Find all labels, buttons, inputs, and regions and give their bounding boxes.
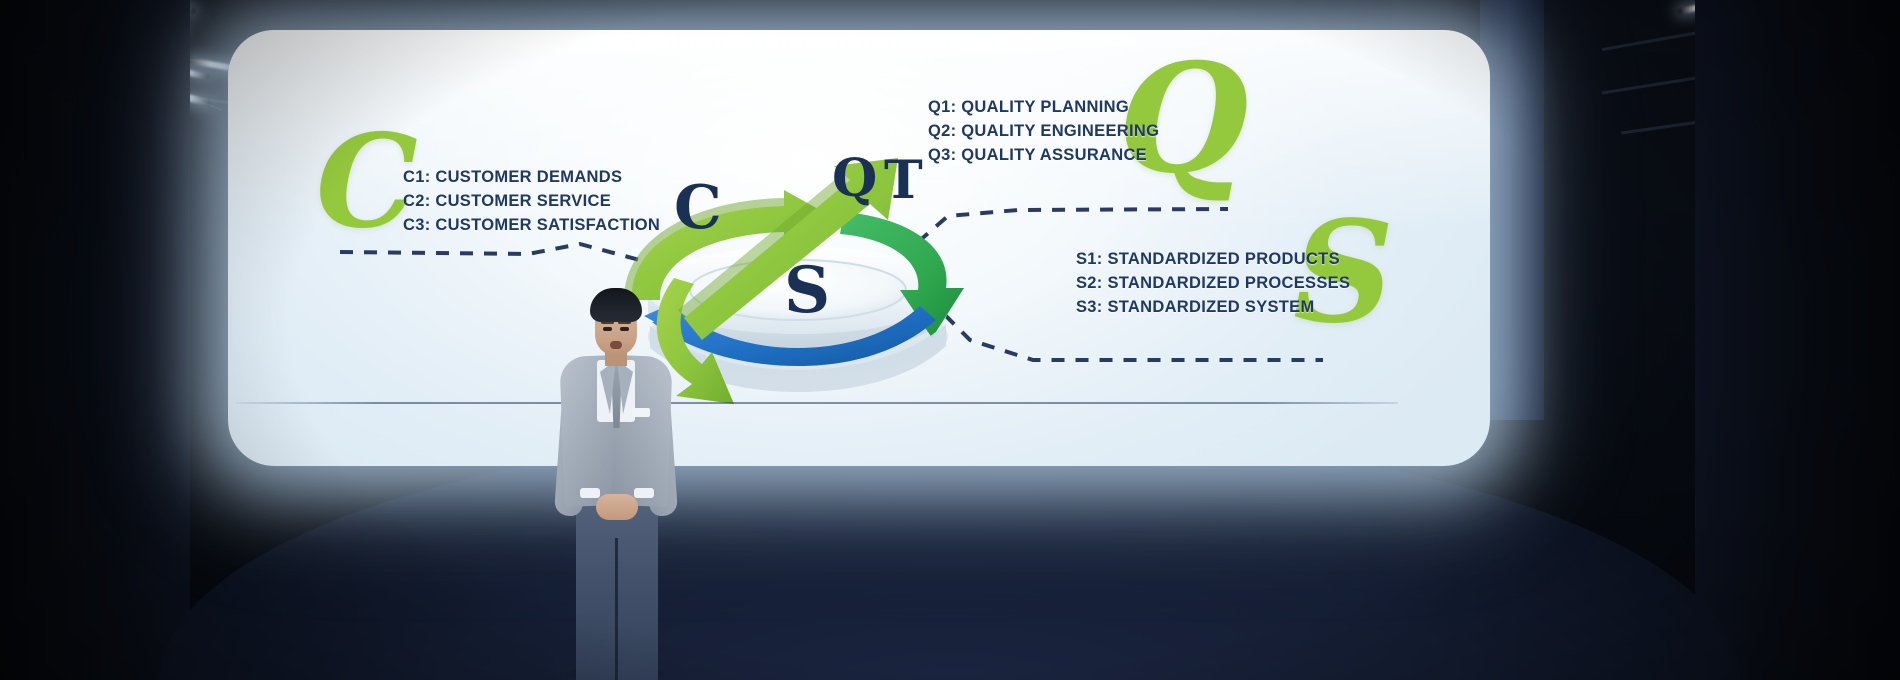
text-block-standard: S1: STANDARDIZED PRODUCTS S2: STANDARDIZ… bbox=[1076, 248, 1350, 319]
standard-line-2: S2: STANDARDIZED PROCESSES bbox=[1076, 272, 1350, 296]
presenter-eye-right bbox=[620, 327, 629, 331]
text-block-quality: Q1: QUALITY PLANNING Q2: QUALITY ENGINEE… bbox=[928, 96, 1159, 167]
quality-line-1: Q1: QUALITY PLANNING bbox=[928, 96, 1159, 120]
quality-line-3: Q3: QUALITY ASSURANCE bbox=[928, 144, 1159, 168]
customer-line-1: C1: CUSTOMER DEMANDS bbox=[403, 166, 660, 190]
presenter-mouth bbox=[610, 341, 622, 349]
standard-line-3: S3: STANDARDIZED SYSTEM bbox=[1076, 296, 1350, 320]
projection-screen: C Q S bbox=[228, 30, 1490, 466]
text-block-customer: C1: CUSTOMER DEMANDS C2: CUSTOMER SERVIC… bbox=[403, 166, 660, 237]
quality-line-2: Q2: QUALITY ENGINEERING bbox=[928, 120, 1159, 144]
presenter-leg-split bbox=[615, 538, 618, 680]
slide-content: C Q S bbox=[228, 30, 1490, 466]
customer-line-3: C3: CUSTOMER SATISFACTION bbox=[403, 214, 660, 238]
presenter-hair bbox=[590, 288, 642, 322]
stage-scene: C Q S bbox=[0, 0, 1900, 680]
stage-wall-left bbox=[0, 0, 190, 680]
presenter-eye-left bbox=[603, 327, 612, 331]
stage-wall-right bbox=[1695, 0, 1900, 680]
ring-letter-s: S bbox=[784, 253, 830, 328]
ring-letter-t: T bbox=[884, 150, 923, 211]
presenter bbox=[556, 288, 676, 680]
presenter-hands bbox=[596, 494, 638, 520]
slide-baseline-rule bbox=[236, 402, 1398, 404]
customer-line-2: C2: CUSTOMER SERVICE bbox=[403, 190, 660, 214]
presenter-name-badge bbox=[632, 408, 650, 417]
standard-line-1: S1: STANDARDIZED PRODUCTS bbox=[1076, 248, 1350, 272]
presenter-cuff-left bbox=[580, 488, 600, 498]
ring-letter-q: Q bbox=[832, 148, 877, 209]
ring-letter-c: C bbox=[674, 173, 722, 243]
presenter-cuff-right bbox=[634, 488, 654, 498]
